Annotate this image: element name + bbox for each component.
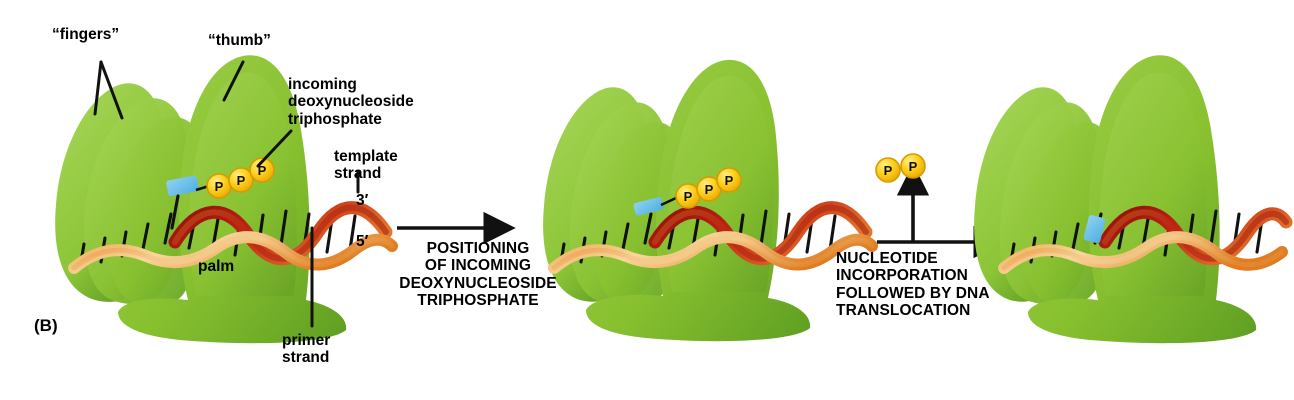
phosphate-circle: P [876, 158, 900, 182]
figure-canvas: P P P [0, 0, 1294, 400]
svg-text:P: P [909, 159, 918, 174]
panel-2-polymerase: P P P [543, 60, 872, 341]
label-primer-strand: primer strand [282, 332, 330, 367]
label-thumb: “thumb” [208, 32, 271, 49]
svg-text:P: P [237, 173, 246, 188]
step-1-caption: POSITIONING OF INCOMING DEOXYNUCLEOSIDE … [390, 240, 566, 309]
phosphate-circle: P [207, 174, 231, 198]
phosphate-circle: P [717, 168, 741, 192]
label-palm: palm [198, 258, 234, 275]
label-5-prime: 5′ [356, 233, 368, 250]
step-2-caption: NUCLEOTIDE INCORPORATION FOLLOWED BY DNA… [836, 250, 1014, 319]
svg-text:P: P [725, 173, 734, 188]
label-3-prime: 3′ [356, 192, 368, 209]
label-template-strand: template strand [334, 148, 398, 183]
step-arrow-2: P P [876, 154, 977, 242]
svg-text:P: P [705, 182, 714, 197]
released-pyrophosphate: P P [876, 154, 925, 182]
panel-3-polymerase [974, 55, 1286, 343]
label-fingers: “fingers” [52, 26, 119, 43]
svg-text:P: P [215, 179, 224, 194]
svg-text:P: P [684, 189, 693, 204]
diagram-svg: P P P [0, 0, 1294, 400]
panel-label-b: (B) [34, 316, 58, 336]
label-incoming-dntp: incoming deoxynucleoside triphosphate [288, 76, 414, 128]
phosphate-circle: P [901, 154, 925, 178]
svg-text:P: P [884, 163, 893, 178]
